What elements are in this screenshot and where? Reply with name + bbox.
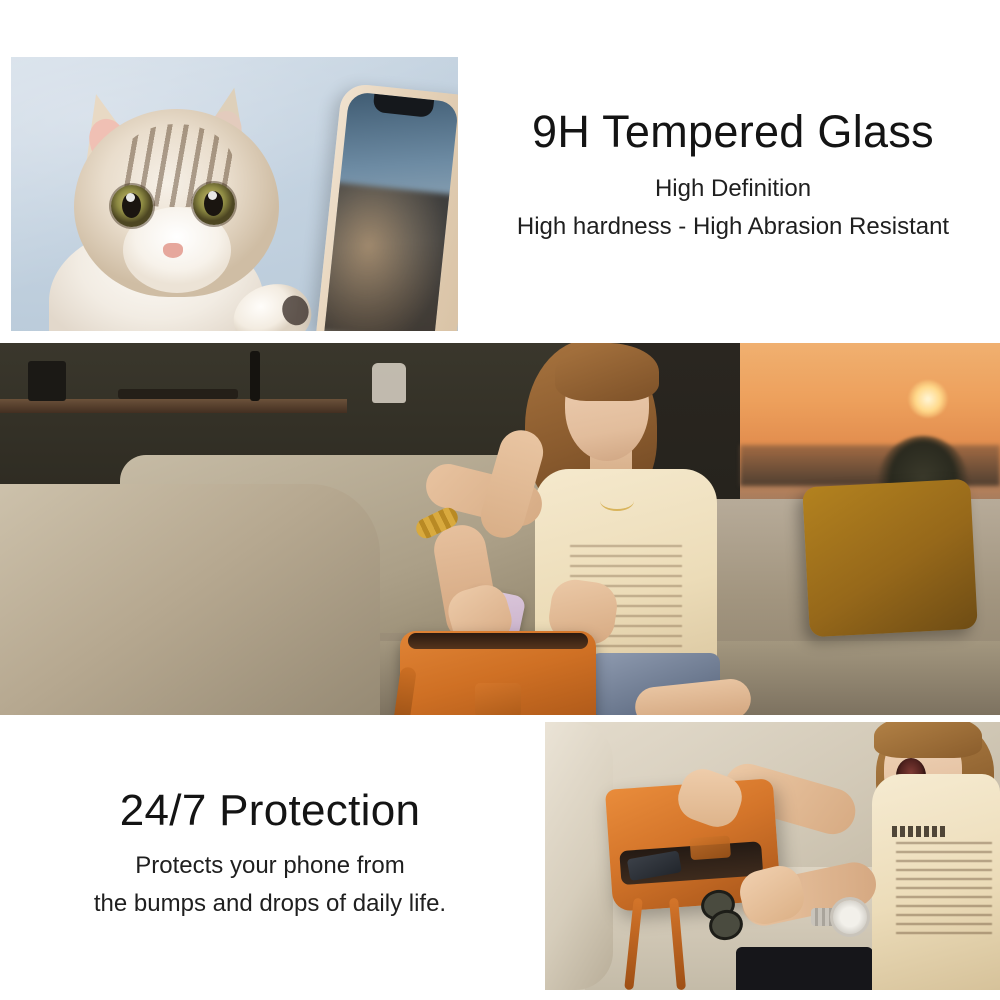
woman-necklace xyxy=(600,491,634,511)
sunglasses xyxy=(705,890,745,934)
protection-text-block: 24/7 Protection Protects your phone from… xyxy=(10,788,530,922)
mustard-throw-pillow xyxy=(802,479,978,638)
woman-hair-front xyxy=(555,343,659,401)
setting-sun xyxy=(908,380,948,418)
photo-handbag-closeup xyxy=(545,722,1000,990)
smartphone-device xyxy=(316,82,458,331)
photo-cat-with-phone xyxy=(11,57,458,331)
handbag-opening xyxy=(408,633,588,649)
cat-eye-right xyxy=(193,183,235,225)
protection-headline: 24/7 Protection xyxy=(10,788,530,834)
product-marketing-page: 9H Tempered Glass High Definition High h… xyxy=(0,0,1000,1000)
woman-hair-top-closeup xyxy=(874,722,982,758)
sofa-armrest xyxy=(0,484,380,715)
tempered-glass-text-block: 9H Tempered Glass High Definition High h… xyxy=(466,108,1000,245)
tempered-glass-headline: 9H Tempered Glass xyxy=(466,108,1000,155)
cat-eye-left xyxy=(111,185,153,227)
orange-handbag xyxy=(400,631,596,715)
handbag-front-tab xyxy=(475,683,521,715)
wristwatch-face xyxy=(833,900,867,934)
sofa-armrest-closeup xyxy=(545,722,613,990)
shelf-object-stand xyxy=(250,351,260,401)
tempered-glass-subline-2: High hardness - High Abrasion Resistant xyxy=(466,209,1000,245)
shelf-object-vase xyxy=(28,361,66,401)
shelf-object-book xyxy=(118,389,238,399)
tank-top-brand-text xyxy=(892,826,948,837)
dark-shadow-area xyxy=(736,947,873,990)
tank-top-print-closeup xyxy=(896,842,992,934)
handbag-front-tab-closeup xyxy=(689,835,730,860)
cat-nose xyxy=(163,243,183,258)
shelf-object-lamp xyxy=(372,363,406,403)
photo-sofa-sunset xyxy=(0,343,1000,715)
tempered-glass-subline-1: High Definition xyxy=(466,171,1000,207)
smartphone-notch xyxy=(373,94,435,118)
protection-subline-2: the bumps and drops of daily life. xyxy=(10,886,530,922)
protection-subline-1: Protects your phone from xyxy=(10,848,530,884)
wall-shelf xyxy=(0,399,347,413)
smartphone-screen xyxy=(324,91,458,331)
